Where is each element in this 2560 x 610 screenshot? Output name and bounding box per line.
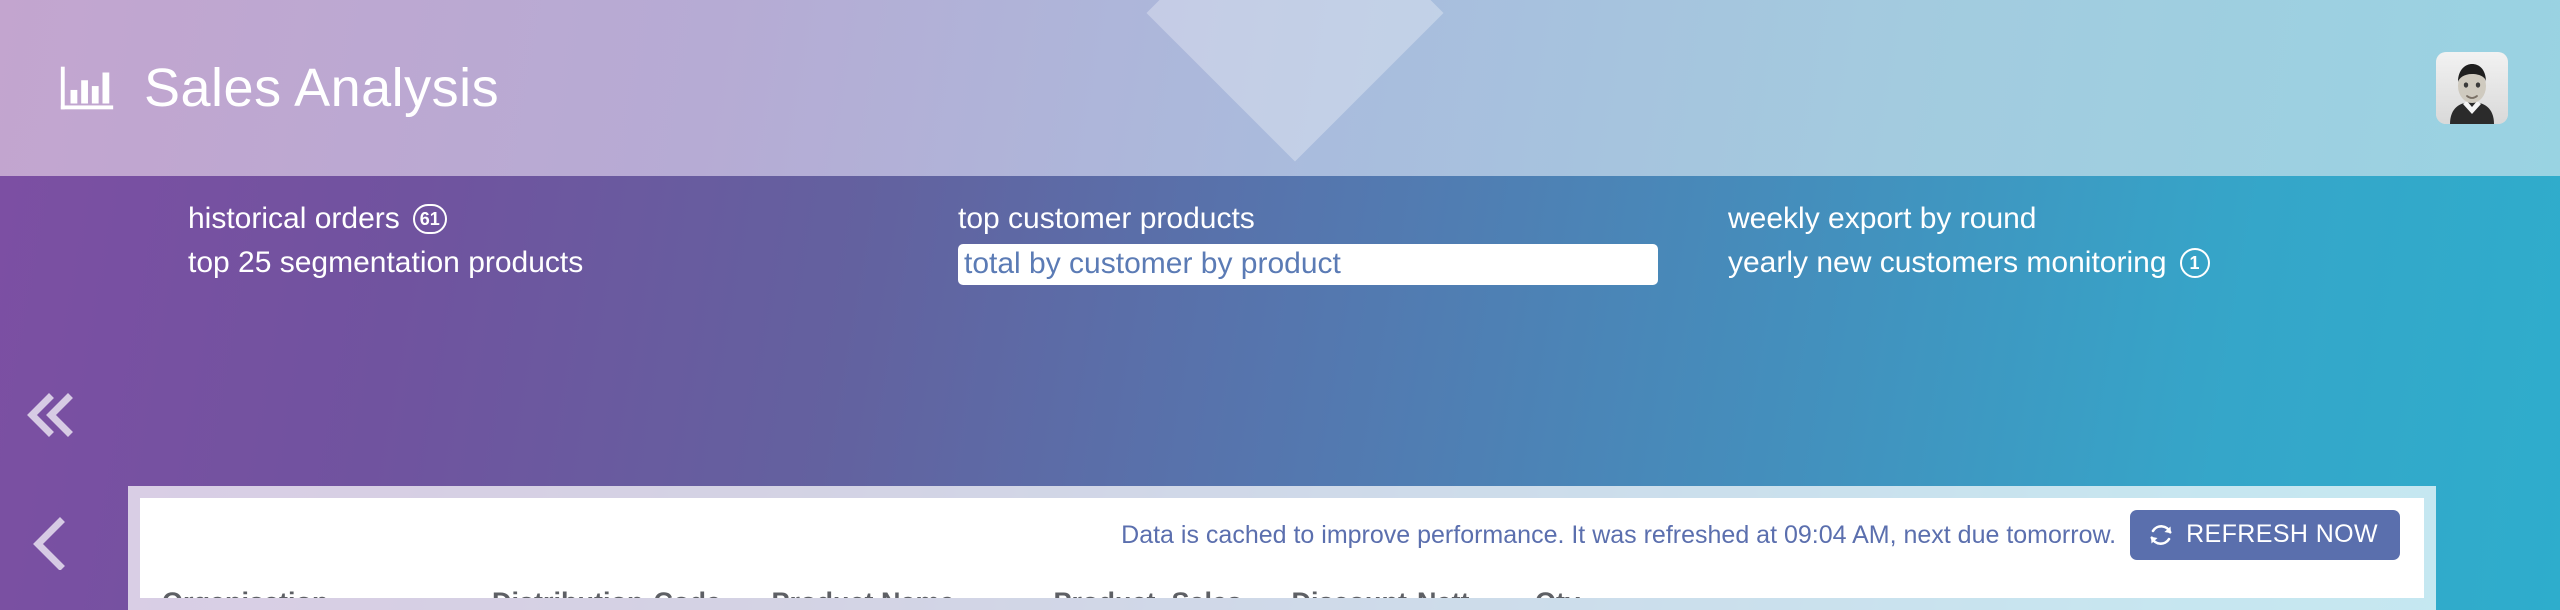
column-header-distribution-method[interactable]: Distribution Method [492,576,653,598]
refresh-now-label: REFRESH NOW [2186,520,2378,549]
nav-item-yearly-new-customers-monitoring[interactable]: yearly new customers monitoring 1 [1728,244,2210,283]
nav-column-3: weekly export by round yearly new custom… [1728,200,2210,285]
brand: Sales Analysis [56,57,499,119]
app-header: Sales Analysis [0,0,2560,176]
nav-column-2: top customer products total by customer … [958,200,1728,285]
column-header-qty[interactable]: Qty [1535,576,1665,598]
app-root: Sales Analysis [0,0,2560,610]
nav-item-label: total by customer by product [964,246,1341,283]
nav-item-top-customer-products[interactable]: top customer products [958,200,1255,239]
nav-item-label: yearly new customers monitoring [1728,245,2167,282]
data-table: Organisation Distribution Method Code Pr… [140,570,2424,598]
nav-item-label: top customer products [958,201,1255,238]
nav-item-total-by-customer-by-product[interactable]: total by customer by product [958,244,1658,286]
nav-item-weekly-export-by-round[interactable]: weekly export by round [1728,200,2037,239]
cache-notice: Data is cached to improve performance. I… [140,498,2424,570]
column-header-organisation[interactable]: Organisation [140,576,492,598]
nav-item-top-25-segmentation-products[interactable]: top 25 segmentation products [188,244,583,283]
nav-region: historical orders 61 top 25 segmentation… [0,176,2560,610]
nav-item-badge: 1 [2180,248,2210,278]
header-decoration-chevron [1147,0,1444,161]
table-header-row: Organisation Distribution Method Code Pr… [140,570,2424,598]
nav-item-badge: 61 [413,204,447,234]
column-header-product-name[interactable]: Product Name [771,576,1053,598]
nav-columns: historical orders 61 top 25 segmentation… [0,200,2560,285]
refresh-icon [2148,522,2174,548]
column-header-product-status[interactable]: Product Status [1053,576,1171,598]
content-panel: Data is cached to improve performance. I… [140,498,2424,598]
nav-item-historical-orders[interactable]: historical orders 61 [188,200,447,239]
chevron-left-icon[interactable] [22,512,80,570]
bar-chart-icon [56,57,118,119]
refresh-now-button[interactable]: REFRESH NOW [2130,510,2400,560]
cache-message: Data is cached to improve performance. I… [1121,521,2116,550]
avatar[interactable] [2436,52,2508,124]
nav-item-label: historical orders [188,201,400,238]
chevron-double-left-icon[interactable] [22,386,80,444]
column-header-code[interactable]: Code [653,576,771,598]
nav-column-1: historical orders 61 top 25 segmentation… [188,200,958,285]
nav-item-label: weekly export by round [1728,201,2037,238]
nav-item-label: top 25 segmentation products [188,245,583,282]
column-header-nett-sales[interactable]: Nett Sales [1417,576,1535,598]
column-header-sales[interactable]: Sales [1171,576,1291,598]
page-title: Sales Analysis [144,61,499,115]
content-panel-frame: Data is cached to improve performance. I… [128,486,2436,610]
column-header-discount[interactable]: Discount [1291,576,1417,598]
